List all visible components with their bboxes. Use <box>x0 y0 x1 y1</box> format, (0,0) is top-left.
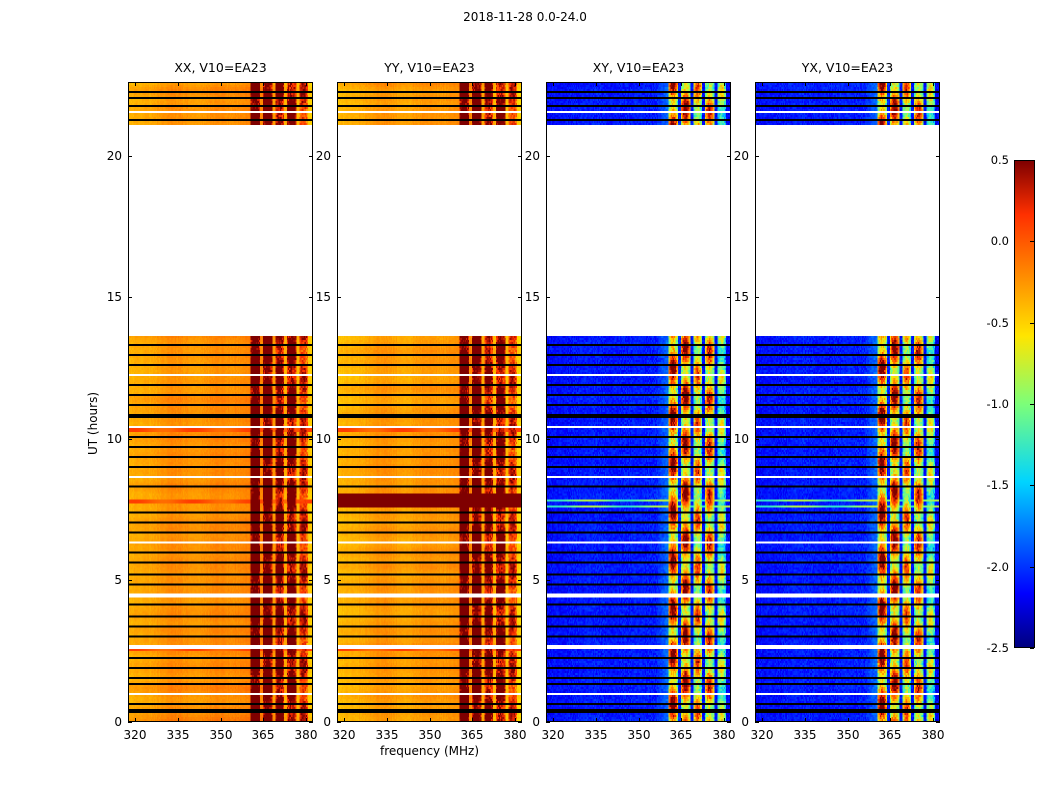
x-tick-label: 380 <box>713 728 736 742</box>
y-tick-mark <box>128 580 132 581</box>
y-tick-mark <box>128 439 132 440</box>
x-tick-mark-top <box>724 82 725 86</box>
panel-title-yy: YY, V10=EA23 <box>337 60 522 75</box>
x-tick-mark-top <box>848 82 849 86</box>
y-tick-mark <box>755 580 759 581</box>
panel-title-yx: YX, V10=EA23 <box>755 60 940 75</box>
x-tick-label: 365 <box>461 728 484 742</box>
y-tick-mark <box>755 439 759 440</box>
y-tick-mark <box>337 722 341 723</box>
x-tick-mark-top <box>178 82 179 86</box>
heatmap-panel-yy[interactable] <box>337 82 522 722</box>
x-tick-mark-top <box>472 82 473 86</box>
colorbar-tick-mark <box>1030 485 1034 486</box>
dynamic-spectrum-image <box>547 83 730 721</box>
panel-title-xy: XY, V10=EA23 <box>546 60 731 75</box>
y-tick-label: 20 <box>96 149 122 163</box>
x-tick-mark <box>762 718 763 722</box>
x-tick-mark <box>639 718 640 722</box>
y-tick-mark <box>128 156 132 157</box>
y-tick-mark <box>755 297 759 298</box>
y-tick-mark <box>755 156 759 157</box>
y-tick-mark <box>128 297 132 298</box>
x-tick-mark <box>848 718 849 722</box>
x-tick-mark-top <box>344 82 345 86</box>
x-tick-mark-top <box>430 82 431 86</box>
y-axis-label: UT (hours) <box>86 392 100 455</box>
x-tick-label: 320 <box>124 728 147 742</box>
x-tick-mark-top <box>805 82 806 86</box>
x-tick-mark <box>933 718 934 722</box>
y-tick-label: 20 <box>305 149 331 163</box>
x-tick-mark <box>178 718 179 722</box>
x-tick-mark-top <box>221 82 222 86</box>
x-tick-label: 365 <box>879 728 902 742</box>
x-tick-mark-top <box>135 82 136 86</box>
y-tick-mark <box>337 580 341 581</box>
y-tick-label: 0 <box>96 715 122 729</box>
x-tick-mark <box>596 718 597 722</box>
colorbar-tick-label: -0.5 <box>987 316 1009 330</box>
x-tick-mark-top <box>306 82 307 86</box>
x-tick-label: 350 <box>837 728 860 742</box>
x-tick-label: 335 <box>167 728 190 742</box>
y-tick-label: 15 <box>723 290 749 304</box>
x-tick-label: 365 <box>252 728 275 742</box>
x-tick-mark <box>263 718 264 722</box>
x-tick-mark <box>553 718 554 722</box>
y-tick-mark <box>755 722 759 723</box>
x-tick-label: 365 <box>670 728 693 742</box>
y-tick-label: 15 <box>514 290 540 304</box>
y-tick-mark <box>337 439 341 440</box>
y-tick-label: 0 <box>514 715 540 729</box>
x-tick-label: 380 <box>295 728 318 742</box>
x-tick-mark-top <box>762 82 763 86</box>
colorbar-tick-label: -1.0 <box>987 397 1009 411</box>
y-tick-mark <box>128 722 132 723</box>
y-tick-label: 0 <box>305 715 331 729</box>
y-tick-mark-right <box>936 580 940 581</box>
x-tick-mark <box>344 718 345 722</box>
x-tick-mark-top <box>387 82 388 86</box>
y-tick-mark <box>337 156 341 157</box>
y-tick-label: 10 <box>305 432 331 446</box>
x-tick-mark <box>805 718 806 722</box>
dynamic-spectrum-image <box>338 83 521 721</box>
y-tick-label: 5 <box>305 573 331 587</box>
x-tick-label: 380 <box>504 728 527 742</box>
y-tick-mark-right <box>936 722 940 723</box>
x-tick-label: 335 <box>376 728 399 742</box>
x-tick-label: 335 <box>585 728 608 742</box>
colorbar-tick-label: -2.0 <box>987 560 1009 574</box>
y-tick-label: 20 <box>723 149 749 163</box>
y-tick-label: 0 <box>723 715 749 729</box>
y-tick-mark <box>546 297 550 298</box>
colorbar-tick-mark <box>1030 404 1034 405</box>
y-tick-mark <box>546 580 550 581</box>
colorbar-tick-mark <box>1030 323 1034 324</box>
x-tick-mark <box>430 718 431 722</box>
x-tick-mark-top <box>933 82 934 86</box>
x-tick-mark <box>472 718 473 722</box>
x-tick-mark <box>387 718 388 722</box>
colorbar-tick-label: -1.5 <box>987 478 1009 492</box>
y-tick-mark <box>546 722 550 723</box>
x-tick-label: 350 <box>210 728 233 742</box>
heatmap-panel-yx[interactable] <box>755 82 940 722</box>
colorbar-tick-label: -2.5 <box>987 641 1009 655</box>
figure-canvas: 2018-11-28 0.0-24.0 XX, V10=EA2332033535… <box>0 0 1050 800</box>
y-tick-label: 10 <box>514 432 540 446</box>
y-tick-label: 20 <box>514 149 540 163</box>
x-tick-label: 380 <box>922 728 945 742</box>
heatmap-panel-xy[interactable] <box>546 82 731 722</box>
colorbar-tick-mark <box>1030 648 1034 649</box>
colorbar-tick-mark <box>1030 160 1034 161</box>
y-tick-mark <box>546 439 550 440</box>
y-tick-label: 5 <box>723 573 749 587</box>
x-tick-mark-top <box>515 82 516 86</box>
colorbar-tick-label: 0.0 <box>991 234 1009 248</box>
y-tick-mark-right <box>936 156 940 157</box>
y-tick-mark <box>337 297 341 298</box>
x-tick-mark-top <box>681 82 682 86</box>
figure-suptitle: 2018-11-28 0.0-24.0 <box>0 10 1050 24</box>
x-tick-label: 350 <box>419 728 442 742</box>
x-tick-mark-top <box>596 82 597 86</box>
y-tick-label: 5 <box>514 573 540 587</box>
x-tick-label: 320 <box>333 728 356 742</box>
x-tick-label: 335 <box>794 728 817 742</box>
y-tick-mark-right <box>936 439 940 440</box>
x-axis-label: frequency (MHz) <box>337 744 522 758</box>
dynamic-spectrum-image <box>756 83 939 721</box>
y-tick-label: 5 <box>96 573 122 587</box>
y-tick-label: 10 <box>723 432 749 446</box>
dynamic-spectrum-image <box>129 83 312 721</box>
y-tick-mark-right <box>936 297 940 298</box>
y-tick-label: 15 <box>96 290 122 304</box>
heatmap-panel-xx[interactable] <box>128 82 313 722</box>
y-tick-label: 15 <box>305 290 331 304</box>
x-tick-mark-top <box>553 82 554 86</box>
x-tick-mark-top <box>263 82 264 86</box>
x-tick-mark-top <box>639 82 640 86</box>
panel-title-xx: XX, V10=EA23 <box>128 60 313 75</box>
colorbar-tick-mark <box>1030 241 1034 242</box>
x-tick-label: 320 <box>751 728 774 742</box>
x-tick-label: 320 <box>542 728 565 742</box>
x-tick-mark <box>681 718 682 722</box>
x-tick-mark <box>135 718 136 722</box>
x-tick-mark <box>890 718 891 722</box>
colorbar-tick-mark <box>1030 567 1034 568</box>
x-tick-mark <box>221 718 222 722</box>
y-tick-mark <box>546 156 550 157</box>
x-tick-mark-top <box>890 82 891 86</box>
colorbar-tick-label: 0.5 <box>991 153 1009 167</box>
x-tick-label: 350 <box>628 728 651 742</box>
